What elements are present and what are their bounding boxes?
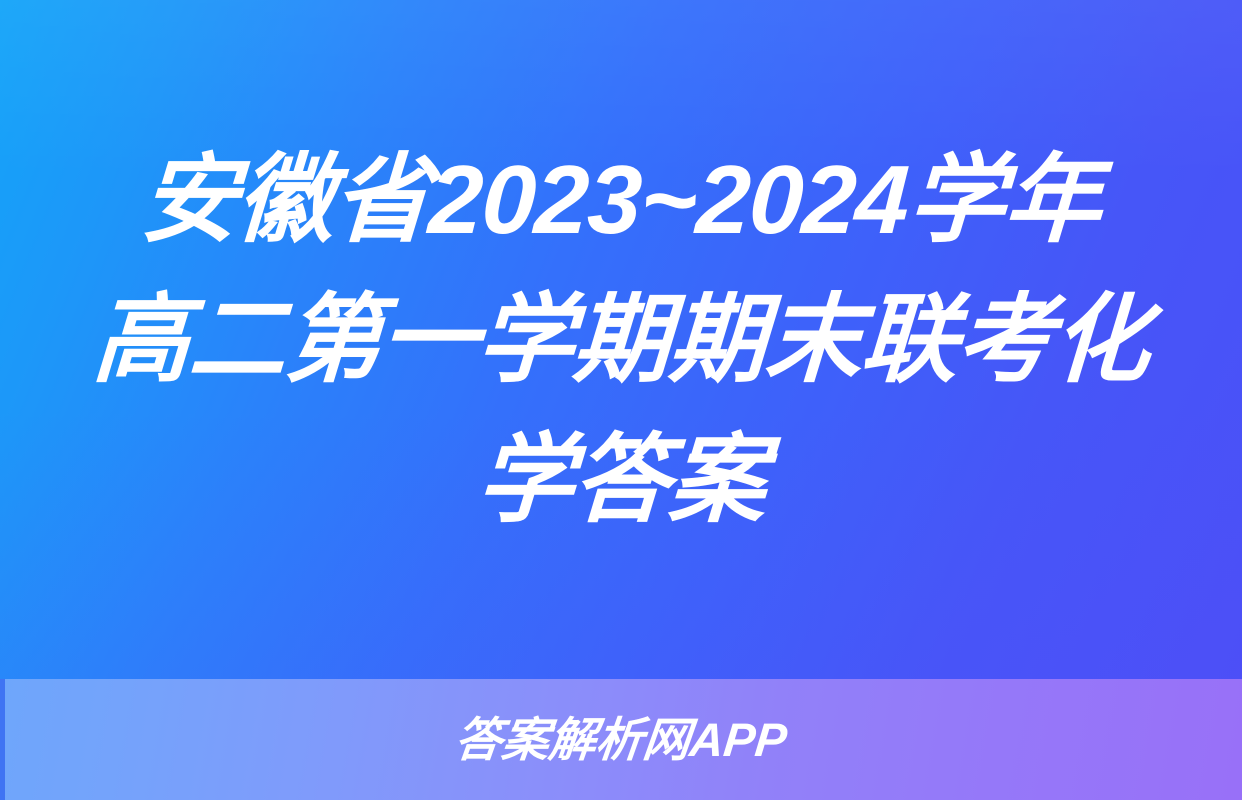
watermark-block: 答案解析网APP [0, 679, 1242, 800]
poster-canvas: 安徽省2023~2024学年 高二第一学期期末联考化 学答案 答案解析网APP [0, 0, 1242, 800]
title-line-1: 安徽省2023~2024学年 [138, 130, 1105, 270]
title-line-3: 学答案 [473, 410, 768, 550]
watermark-app-label: 答案解析网APP [452, 714, 789, 766]
title-block: 安徽省2023~2024学年 高二第一学期期末联考化 学答案 [0, 0, 1242, 679]
title-line-2: 高二第一学期期末联考化 [89, 270, 1152, 410]
